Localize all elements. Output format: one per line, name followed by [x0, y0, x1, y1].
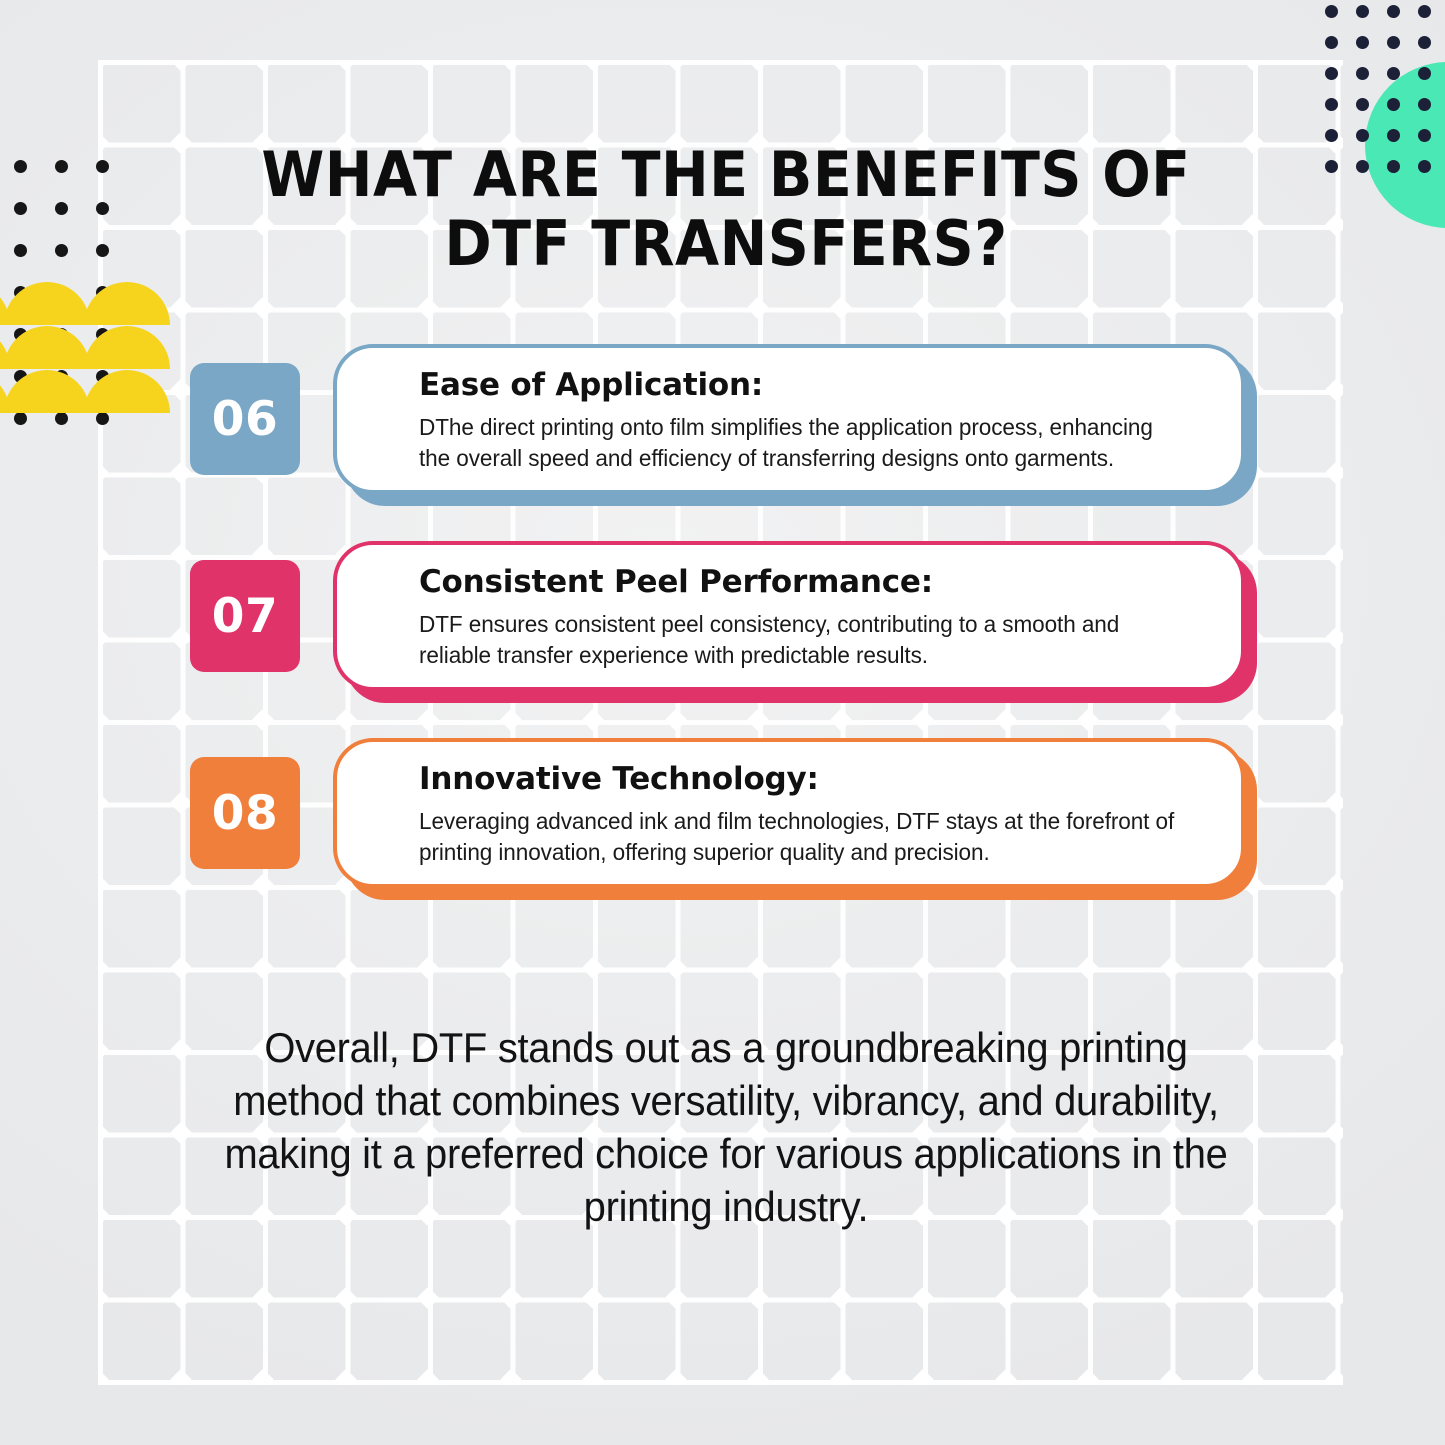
card-number-label: 06	[212, 392, 278, 447]
benefit-card-list: 06 Ease of Application: DThe direct prin…	[0, 344, 1445, 935]
card-body: Leveraging advanced ink and film technol…	[419, 806, 1175, 868]
grid-node	[1242, 1204, 1265, 1227]
decorative-dot	[96, 160, 109, 173]
decorative-dot	[1325, 160, 1338, 173]
grid-node	[252, 296, 275, 319]
grid-node	[499, 60, 522, 71]
grid-node	[334, 1369, 357, 1385]
grid-node	[252, 1286, 275, 1309]
grid-node	[664, 1286, 687, 1309]
grid-node	[1324, 1121, 1343, 1144]
grid-node	[1324, 1369, 1343, 1385]
grid-node	[747, 956, 770, 979]
grid-node	[169, 1369, 192, 1385]
grid-node	[334, 1286, 357, 1309]
yellow-semicircle	[84, 282, 170, 325]
card-heading: Innovative Technology:	[419, 762, 1207, 796]
grid-node	[747, 60, 770, 71]
decorative-dot	[14, 244, 27, 257]
grid-node	[1324, 956, 1343, 979]
grid-node	[417, 1286, 440, 1309]
grid-node	[994, 60, 1017, 71]
card-body: DThe direct printing onto film simplifie…	[419, 412, 1175, 474]
grid-node	[499, 296, 522, 319]
grid-node	[912, 296, 935, 319]
grid-node	[1159, 60, 1182, 71]
grid-node	[747, 296, 770, 319]
grid-node	[1077, 60, 1100, 71]
grid-node	[1077, 956, 1100, 979]
grid-node	[98, 1204, 109, 1227]
decorative-dot	[1418, 36, 1431, 49]
grid-node	[1324, 131, 1343, 154]
grid-node	[829, 1369, 852, 1385]
decorative-dot	[96, 202, 109, 215]
grid-node	[664, 296, 687, 319]
benefit-row: 07 Consistent Peel Performance: DTF ensu…	[0, 541, 1445, 691]
decorative-dot	[14, 328, 27, 341]
grid-node	[994, 1286, 1017, 1309]
grid-node	[1242, 1039, 1265, 1062]
grid-node	[334, 296, 357, 319]
decorative-dot	[96, 244, 109, 257]
yellow-semicircle	[4, 282, 90, 325]
grid-node	[98, 131, 109, 154]
grid-node	[1159, 296, 1182, 319]
grid-node	[829, 956, 852, 979]
decorative-dot	[1356, 36, 1369, 49]
grid-node	[829, 1286, 852, 1309]
grid-node	[417, 296, 440, 319]
grid-node	[252, 956, 275, 979]
grid-node	[417, 60, 440, 71]
card-number-badge: 06	[190, 363, 300, 475]
grid-node	[1324, 1286, 1343, 1309]
grid-node	[169, 214, 192, 237]
grid-node	[1077, 296, 1100, 319]
grid-node	[582, 296, 605, 319]
decorative-dot	[55, 160, 68, 173]
decorative-dot	[14, 286, 27, 299]
summary-paragraph: Overall, DTF stands out as a groundbreak…	[223, 1022, 1230, 1234]
grid-node	[1242, 60, 1265, 71]
grid-node	[1242, 1286, 1265, 1309]
yellow-semicircle	[0, 282, 10, 325]
grid-node	[334, 60, 357, 71]
decorative-dot	[1356, 98, 1369, 111]
grid-node	[1324, 1039, 1343, 1062]
grid-node	[169, 1039, 192, 1062]
grid-node	[1159, 1286, 1182, 1309]
grid-node	[169, 1121, 192, 1144]
decorative-dot	[1356, 5, 1369, 18]
decorative-dot	[14, 160, 27, 173]
card-number-badge: 07	[190, 560, 300, 672]
card-heading: Ease of Application:	[419, 368, 1207, 402]
grid-node	[912, 60, 935, 71]
grid-node	[994, 1369, 1017, 1385]
grid-node	[1324, 296, 1343, 319]
grid-node	[664, 1369, 687, 1385]
decorative-dot	[55, 202, 68, 215]
grid-node	[1324, 60, 1343, 71]
decorative-dot	[55, 244, 68, 257]
decorative-dot	[1387, 5, 1400, 18]
card-body: DTF ensures consistent peel consistency,…	[419, 609, 1175, 671]
grid-node	[499, 956, 522, 979]
grid-node	[98, 956, 109, 979]
teal-circle-decoration	[1365, 62, 1445, 228]
decorative-dot	[96, 328, 109, 341]
grid-node	[98, 60, 109, 71]
grid-node	[994, 296, 1017, 319]
grid-node	[1242, 1369, 1265, 1385]
grid-node	[169, 956, 192, 979]
decorative-dot	[1325, 129, 1338, 142]
grid-node	[664, 60, 687, 71]
benefit-card[interactable]: Ease of Application: DThe direct printin…	[333, 344, 1245, 494]
card-number-label: 08	[212, 786, 278, 841]
page-title: WHAT ARE THE BENEFITS OF DTF TRANSFERS?	[229, 140, 1223, 279]
decorative-dot	[1325, 36, 1338, 49]
decorative-dot	[55, 328, 68, 341]
grid-node	[169, 1286, 192, 1309]
benefit-row: 06 Ease of Application: DThe direct prin…	[0, 344, 1445, 494]
grid-node	[829, 60, 852, 71]
decorative-dot	[14, 202, 27, 215]
decorative-dot	[55, 286, 68, 299]
grid-node	[582, 1286, 605, 1309]
grid-node	[334, 956, 357, 979]
grid-node	[1159, 1369, 1182, 1385]
grid-node	[499, 1286, 522, 1309]
grid-node	[169, 296, 192, 319]
decorative-dot	[1325, 98, 1338, 111]
infographic-canvas: WHAT ARE THE BENEFITS OF DTF TRANSFERS? …	[0, 0, 1445, 1445]
benefit-card[interactable]: Consistent Peel Performance: DTF ensures…	[333, 541, 1245, 691]
card-heading: Consistent Peel Performance:	[419, 565, 1207, 599]
grid-node	[1077, 1286, 1100, 1309]
grid-node	[417, 956, 440, 979]
grid-node	[664, 956, 687, 979]
grid-node	[829, 296, 852, 319]
grid-node	[1242, 296, 1265, 319]
card-number-badge: 08	[190, 757, 300, 869]
decorative-dot	[1418, 5, 1431, 18]
grid-node	[98, 1039, 109, 1062]
decorative-dot	[1387, 36, 1400, 49]
decorative-dot	[1325, 5, 1338, 18]
grid-node	[169, 60, 192, 71]
grid-node	[1242, 956, 1265, 979]
grid-node	[912, 1286, 935, 1309]
grid-node	[1077, 1369, 1100, 1385]
grid-node	[747, 1369, 770, 1385]
grid-node	[98, 1369, 109, 1385]
grid-node	[1324, 214, 1343, 237]
grid-node	[98, 296, 109, 319]
grid-node	[169, 1204, 192, 1227]
grid-node	[582, 60, 605, 71]
grid-node	[912, 956, 935, 979]
grid-node	[912, 1369, 935, 1385]
grid-node	[747, 1286, 770, 1309]
grid-node	[252, 60, 275, 71]
grid-node	[499, 1369, 522, 1385]
grid-node	[994, 956, 1017, 979]
grid-node	[582, 956, 605, 979]
grid-node	[1324, 1204, 1343, 1227]
grid-node	[252, 1369, 275, 1385]
benefit-row: 08 Innovative Technology: Leveraging adv…	[0, 738, 1445, 888]
grid-node	[169, 131, 192, 154]
decorative-dot	[1356, 67, 1369, 80]
grid-node	[582, 1369, 605, 1385]
grid-node	[1242, 1121, 1265, 1144]
grid-node	[1242, 214, 1265, 237]
grid-node	[1159, 956, 1182, 979]
grid-node	[417, 1369, 440, 1385]
grid-node	[98, 214, 109, 237]
benefit-card[interactable]: Innovative Technology: Leveraging advanc…	[333, 738, 1245, 888]
grid-node	[98, 1121, 109, 1144]
grid-node	[1242, 131, 1265, 154]
grid-node	[98, 1286, 109, 1309]
decorative-dot	[96, 286, 109, 299]
decorative-dot	[1325, 67, 1338, 80]
card-number-label: 07	[212, 589, 278, 644]
